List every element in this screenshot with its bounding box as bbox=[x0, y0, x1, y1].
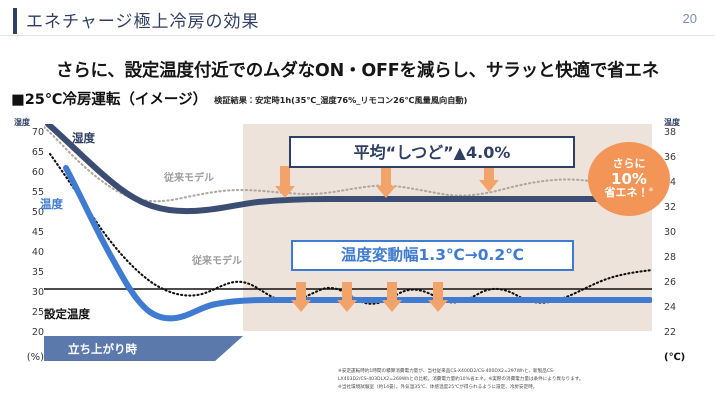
headline-text: さらに、設定温度付近でのムダなON・OFFを減らし、サラッと快適で省エネ bbox=[0, 57, 715, 82]
badge-line-2: 10% bbox=[611, 171, 647, 188]
tick-right-5: 28 bbox=[664, 252, 702, 263]
tick-left-9: 25 bbox=[6, 307, 44, 318]
subheading-note: 検証結果：安定時1h(35℃_湿度76%_リモコン26℃風量風向自動) bbox=[214, 94, 467, 106]
slide-header: エネチャージ極上冷房の効果 20 bbox=[0, 6, 715, 38]
header-divider bbox=[0, 35, 715, 36]
tick-right-0: 38 bbox=[664, 127, 702, 138]
tick-right-8: 22 bbox=[664, 327, 702, 338]
phase-steady: 安定時 bbox=[212, 336, 652, 361]
series-temperature-legacy bbox=[50, 154, 652, 304]
phase-startup: 立ち上がり時 bbox=[44, 336, 243, 361]
label-setpoint: 設定温度 bbox=[44, 306, 90, 322]
callout-temperature: 温度変動幅1.3℃→0.2℃ bbox=[291, 240, 574, 271]
badge-line-3-text: 省エネ！ bbox=[604, 186, 648, 199]
subheading-row: ■25℃冷房運転（イメージ） 検証結果：安定時1h(35℃_湿度76%_リモコン… bbox=[11, 88, 467, 109]
tick-left-10: 20 bbox=[6, 327, 44, 338]
footnote-line-1: ※安定運転時約1時間の積算消費電力量が、当社従来品CS-X400D2/CS-40… bbox=[338, 368, 678, 376]
tick-right-4: 30 bbox=[664, 227, 702, 238]
title-accent-bar bbox=[13, 8, 17, 34]
label-legacy-model-lower: 従来モデル bbox=[192, 252, 242, 267]
footnote-block: ※安定運転時約1時間の積算消費電力量が、当社従来品CS-X400D2/CS-40… bbox=[338, 368, 678, 392]
badge-line-3: 省エネ！※ bbox=[604, 187, 653, 199]
phase-bar: 安定時 立ち上がり時 bbox=[44, 336, 652, 361]
footnote-line-3: ※当社環境試験室（約14畳）。外気温35℃、体感温度25℃が得られるように設定。… bbox=[338, 384, 678, 392]
slide: エネチャージ極上冷房の効果 20 さらに、設定温度付近でのムダなON・OFFを減… bbox=[0, 0, 715, 402]
tick-right-1: 36 bbox=[664, 152, 702, 163]
label-legacy-model-upper: 従来モデル bbox=[164, 169, 214, 184]
tick-left-5: 45 bbox=[6, 227, 44, 238]
tick-left-7: 35 bbox=[6, 267, 44, 278]
left-axis-ticks: 70 65 60 55 50 45 40 35 30 25 20 bbox=[6, 124, 44, 354]
tick-left-2: 60 bbox=[6, 167, 44, 178]
callout-humidity: 平均“しつど”▲4.0% bbox=[289, 136, 575, 168]
tick-right-7: 24 bbox=[664, 302, 702, 313]
tick-left-3: 55 bbox=[6, 187, 44, 198]
tick-right-3: 32 bbox=[664, 202, 702, 213]
tick-left-4: 50 bbox=[6, 207, 44, 218]
label-temperature-series: 温度 bbox=[40, 196, 63, 212]
energy-saving-badge: さらに 10% 省エネ！※ bbox=[588, 142, 670, 216]
tick-left-0: 70 bbox=[6, 127, 44, 138]
page-number: 20 bbox=[683, 11, 697, 26]
page-title: エネチャージ極上冷房の効果 bbox=[26, 7, 260, 32]
label-humidity-series: 湿度 bbox=[72, 130, 95, 146]
left-axis-unit: (%) bbox=[6, 352, 44, 363]
tick-left-6: 40 bbox=[6, 247, 44, 258]
right-axis-ticks: 38 36 34 32 30 28 26 24 22 bbox=[664, 124, 702, 354]
tick-right-6: 26 bbox=[664, 277, 702, 288]
footnote-line-2: LX403D2/CS-403DLX2=269Whとの比較。消費電力量約10%省エ… bbox=[338, 376, 678, 384]
tick-left-8: 30 bbox=[6, 287, 44, 298]
badge-line-1: さらに bbox=[613, 158, 646, 170]
subheading-label: ■25℃冷房運転（イメージ） bbox=[11, 88, 207, 109]
badge-footnote-mark: ※ bbox=[648, 187, 653, 194]
right-axis-unit: (℃) bbox=[664, 352, 685, 363]
tick-left-1: 65 bbox=[6, 147, 44, 158]
